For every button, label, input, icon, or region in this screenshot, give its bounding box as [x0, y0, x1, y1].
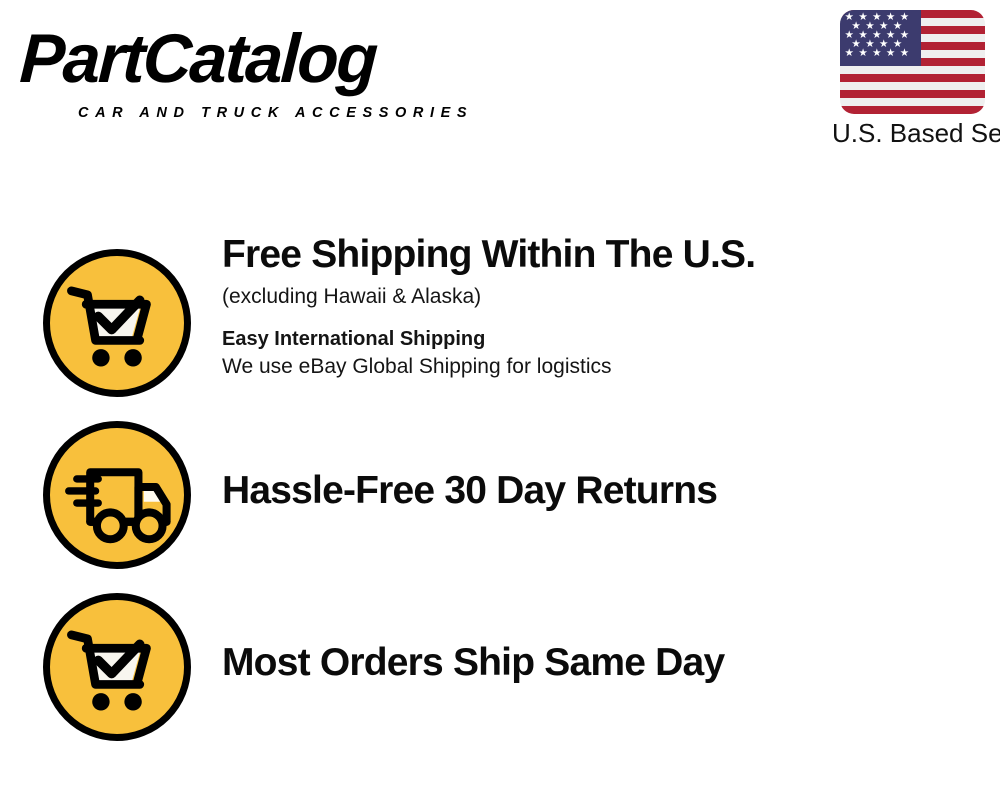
flag-stripe	[840, 66, 985, 74]
brand-wordmark: PartCatalog	[18, 22, 378, 96]
feature-subtitle: (excluding Hawaii & Alaska)	[222, 283, 982, 310]
us-based-seller-badge: ★ ★ ★ ★ ★ ★ ★ ★ ★ ★ ★ ★ ★ ★ ★ ★ ★ ★ ★ ★	[832, 10, 992, 148]
shopping-cart-check-icon	[43, 593, 191, 741]
flag-stripe	[840, 82, 985, 90]
feature-secondary-subtitle: We use eBay Global Shipping for logistic…	[222, 353, 982, 380]
feature-secondary-title: Easy International Shipping	[222, 326, 982, 353]
us-based-seller-label: U.S. Based Seller	[832, 118, 992, 148]
shopping-cart-check-glyph	[50, 256, 184, 390]
delivery-truck-icon	[43, 421, 191, 569]
feature-text: Most Orders Ship Same Day	[222, 641, 982, 685]
feature-title: Hassle-Free 30 Day Returns	[222, 469, 982, 513]
delivery-truck-glyph	[50, 428, 184, 562]
us-flag-icon: ★ ★ ★ ★ ★ ★ ★ ★ ★ ★ ★ ★ ★ ★ ★ ★ ★ ★ ★ ★	[840, 10, 985, 114]
partcatalog-logo[interactable]: PartCatalog CAR AND TRUCK ACCESSORIES	[22, 22, 492, 112]
brand-tagline: CAR AND TRUCK ACCESSORIES	[78, 105, 473, 121]
flag-stripe	[840, 106, 985, 114]
feature-icon	[43, 593, 191, 741]
page-header: PartCatalog CAR AND TRUCK ACCESSORIES ★ …	[0, 0, 1000, 175]
feature-icon	[43, 249, 191, 397]
feature-text: Hassle-Free 30 Day Returns	[222, 469, 982, 513]
flag-stripe	[840, 90, 985, 98]
feature-title: Most Orders Ship Same Day	[222, 641, 982, 685]
shopping-cart-check-glyph	[50, 600, 184, 734]
flag-stripe	[840, 74, 985, 82]
feature-icon	[43, 421, 191, 569]
flag-stripe	[840, 98, 985, 106]
feature-text: Free Shipping Within The U.S. (excluding…	[222, 233, 982, 380]
feature-title: Free Shipping Within The U.S.	[222, 233, 982, 277]
flag-canton: ★ ★ ★ ★ ★ ★ ★ ★ ★ ★ ★ ★ ★ ★ ★ ★ ★ ★ ★ ★	[840, 10, 921, 66]
shopping-cart-check-icon	[43, 249, 191, 397]
feature-secondary-group: Easy International Shipping We use eBay …	[222, 326, 982, 380]
